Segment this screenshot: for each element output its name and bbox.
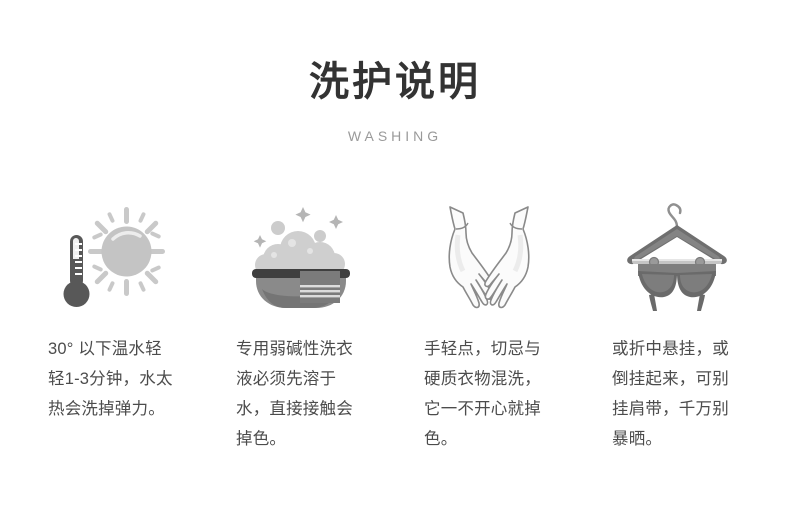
instruction-item: 专用弱碱性洗衣液必须先溶于水，直接接触会掉色。 bbox=[207, 196, 395, 454]
instruction-caption: 30° 以下温水轻轻1-3分钟，水太热会洗掉弹力。 bbox=[48, 334, 178, 424]
thermometer-sun-icon bbox=[48, 196, 178, 318]
instruction-item: 手轻点，切忌与硬质衣物混洗，它一不开心就掉色。 bbox=[395, 196, 583, 454]
page-title: 洗护说明 bbox=[0, 58, 790, 106]
instruction-caption: 或折中悬挂，或倒挂起来，可别挂肩带，千万别暴晒。 bbox=[612, 334, 742, 454]
instruction-item: 或折中悬挂，或倒挂起来，可别挂肩带，千万别暴晒。 bbox=[583, 196, 771, 454]
instruction-caption: 手轻点，切忌与硬质衣物混洗，它一不开心就掉色。 bbox=[424, 334, 554, 454]
instruction-caption: 专用弱碱性洗衣液必须先溶于水，直接接触会掉色。 bbox=[236, 334, 366, 454]
instruction-item: 30° 以下温水轻轻1-3分钟，水太热会洗掉弹力。 bbox=[19, 196, 207, 454]
instruction-columns: 30° 以下温水轻轻1-3分钟，水太热会洗掉弹力。 bbox=[0, 196, 790, 454]
washing-instructions-page: 洗护说明 WASHING bbox=[0, 0, 790, 511]
hand-wash-hands-icon bbox=[424, 196, 554, 318]
page-header: 洗护说明 WASHING bbox=[0, 0, 790, 144]
page-subtitle: WASHING bbox=[0, 128, 790, 144]
hanger-garment-icon bbox=[612, 196, 742, 318]
wash-basin-bubbles-icon bbox=[236, 196, 366, 318]
